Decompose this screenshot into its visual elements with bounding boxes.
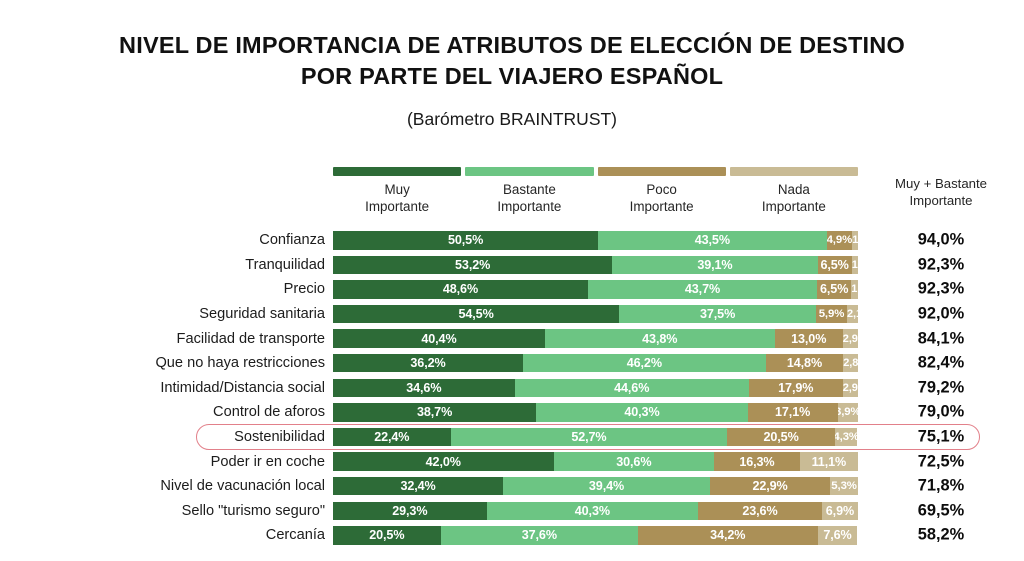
chart-row: Cercanía20,5%37,6%34,2%7,6%58,2% [0,523,1024,548]
page-title-line-2: POR PARTE DEL VIAJERO ESPAÑOL [0,61,1024,92]
bar-segment: 16,3% [714,452,800,471]
chart-row: Confianza50,5%43,5%4,9%1,1%94,0% [0,228,1024,253]
row-label: Sostenibilidad [234,429,325,445]
bar-segment: 36,2% [333,354,523,373]
row-label: Cercanía [266,527,325,543]
row-total-value: 84,1% [866,329,1016,348]
row-total-value: 82,4% [866,354,1016,373]
bar-segment: 37,6% [441,526,638,545]
bar-segment: 32,4% [333,477,503,496]
bar-segment: 37,5% [619,305,816,324]
row-label: Control de aforos [213,404,325,420]
chart-row: Poder ir en coche42,0%30,6%16,3%11,1%72,… [0,449,1024,474]
bar-segment: 54,5% [333,305,619,324]
row-total-value: 75,1% [866,428,1016,447]
legend-swatch-icon [730,167,858,176]
stacked-bar: 42,0%30,6%16,3%11,1% [333,452,858,471]
row-total-value: 71,8% [866,477,1016,496]
bar-segment: 13,0% [775,329,843,348]
bar-segment: 11,1% [800,452,858,471]
stacked-bar: 53,2%39,1%6,5%1,2% [333,256,858,275]
row-total-value: 92,3% [866,280,1016,299]
bar-segment: 22,9% [710,477,830,496]
bar-segment: 6,5% [817,280,851,299]
stacked-bar: 20,5%37,6%34,2%7,6% [333,526,858,545]
row-label: Nivel de vacunación local [160,478,325,494]
stacked-bar: 38,7%40,3%17,1%3,9% [333,403,858,422]
row-total-value: 58,2% [866,526,1016,545]
bar-segment: 14,8% [766,354,844,373]
bar-segment: 3,9% [838,403,858,422]
bar-segment: 44,6% [515,379,749,398]
stacked-bar: 34,6%44,6%17,9%2,9% [333,379,858,398]
bar-segment: 17,9% [749,379,843,398]
bar-segment: 43,5% [598,231,826,250]
row-total-value: 94,0% [866,231,1016,250]
legend-item-label: Poco Importante [598,182,726,215]
legend-item-label: Bastante Importante [465,182,593,215]
bar-segment: 17,1% [748,403,838,422]
chart-row: Nivel de vacunación local32,4%39,4%22,9%… [0,474,1024,499]
bar-segment: 40,4% [333,329,545,348]
row-total-value: 79,0% [866,403,1016,422]
chart-rows: Confianza50,5%43,5%4,9%1,1%94,0%Tranquil… [0,228,1024,548]
bar-segment: 6,5% [818,256,852,275]
bar-segment: 39,1% [612,256,817,275]
bar-segment: 20,5% [727,428,835,447]
legend-item-1: Muy Importante [333,167,461,215]
bar-segment: 29,3% [333,502,487,521]
bar-segment: 50,5% [333,231,598,250]
stacked-bar: 32,4%39,4%22,9%5,3% [333,477,858,496]
row-label: Tranquilidad [245,257,325,273]
bar-segment: 38,7% [333,403,536,422]
page-subtitle: (Barómetro BRAINTRUST) [0,108,1024,130]
title-block: NIVEL DE IMPORTANCIA DE ATRIBUTOS DE ELE… [0,0,1024,130]
chart-row: Sostenibilidad22,4%52,7%20,5%4,3%75,1% [0,425,1024,450]
row-total-value: 69,5% [866,501,1016,520]
bar-segment: 40,3% [536,403,748,422]
stacked-bar: 40,4%43,8%13,0%2,9% [333,329,858,348]
bar-segment: 6,9% [822,502,858,521]
stacked-bar: 54,5%37,5%5,9%2,1% [333,305,858,324]
chart-row: Que no haya restricciones36,2%46,2%14,8%… [0,351,1024,376]
bar-segment: 40,3% [487,502,698,521]
bar-segment: 23,6% [698,502,822,521]
bar-segment: 4,3% [835,428,858,447]
bar-segment: 46,2% [523,354,766,373]
bar-segment: 1,2% [852,256,858,275]
bar-segment: 52,7% [451,428,728,447]
row-total-value: 92,3% [866,255,1016,274]
bar-segment: 2,9% [843,329,858,348]
bar-segment: 34,6% [333,379,515,398]
row-label: Precio [284,281,325,297]
row-label: Poder ir en coche [211,454,325,470]
row-label: Intimidad/Distancia social [160,380,325,396]
row-total-value: 92,0% [866,305,1016,324]
row-label: Confianza [259,232,325,248]
stacked-bar: 29,3%40,3%23,6%6,9% [333,502,858,521]
chart-row: Intimidad/Distancia social34,6%44,6%17,9… [0,376,1024,401]
bar-segment: 2,1% [847,305,858,324]
bar-segment: 2,9% [843,379,858,398]
page-title-line-1: NIVEL DE IMPORTANCIA DE ATRIBUTOS DE ELE… [0,30,1024,61]
stacked-bar: 48,6%43,7%6,5%1,3% [333,280,858,299]
bar-segment: 2,8% [843,354,858,373]
bar-segment: 5,9% [816,305,847,324]
bar-segment: 42,0% [333,452,554,471]
row-label: Sello "turismo seguro" [182,503,325,519]
bar-segment: 53,2% [333,256,612,275]
bar-segment: 43,7% [588,280,817,299]
legend-item-2: Bastante Importante [465,167,593,215]
bar-segment: 39,4% [503,477,710,496]
legend-item-label: Muy Importante [333,182,461,215]
bar-segment: 1,3% [851,280,858,299]
legend-swatch-icon [465,167,593,176]
row-label: Seguridad sanitaria [199,306,325,322]
row-label: Que no haya restricciones [155,355,325,371]
stacked-bar: 50,5%43,5%4,9%1,1% [333,231,858,250]
row-label: Facilidad de transporte [177,331,325,347]
chart-row: Facilidad de transporte40,4%43,8%13,0%2,… [0,326,1024,351]
legend-swatch-icon [333,167,461,176]
bar-segment: 7,6% [818,526,858,545]
bar-segment: 4,9% [827,231,853,250]
chart-legend: Muy ImportanteBastante ImportantePoco Im… [333,167,858,219]
legend-swatch-icon [598,167,726,176]
chart-row: Precio48,6%43,7%6,5%1,3%92,3% [0,277,1024,302]
chart-row: Tranquilidad53,2%39,1%6,5%1,2%92,3% [0,253,1024,278]
bar-segment: 1,1% [852,231,858,250]
row-total-value: 79,2% [866,378,1016,397]
chart-row: Control de aforos38,7%40,3%17,1%3,9%79,0… [0,400,1024,425]
bar-segment: 43,8% [545,329,775,348]
chart-row: Seguridad sanitaria54,5%37,5%5,9%2,1%92,… [0,302,1024,327]
bar-segment: 34,2% [638,526,818,545]
row-total-value: 72,5% [866,452,1016,471]
bar-segment: 30,6% [554,452,715,471]
bar-segment: 22,4% [333,428,451,447]
legend-item-4: Nada Importante [730,167,858,215]
legend-item-3: Poco Importante [598,167,726,215]
stacked-bar: 36,2%46,2%14,8%2,8% [333,354,858,373]
bar-segment: 48,6% [333,280,588,299]
bar-segment: 20,5% [333,526,441,545]
stacked-bar: 22,4%52,7%20,5%4,3% [333,428,858,447]
legend-item-label: Nada Importante [730,182,858,215]
bar-segment: 5,3% [830,477,858,496]
totals-column-header: Muy + Bastante Importante [866,176,1016,209]
chart-row: Sello "turismo seguro"29,3%40,3%23,6%6,9… [0,499,1024,524]
